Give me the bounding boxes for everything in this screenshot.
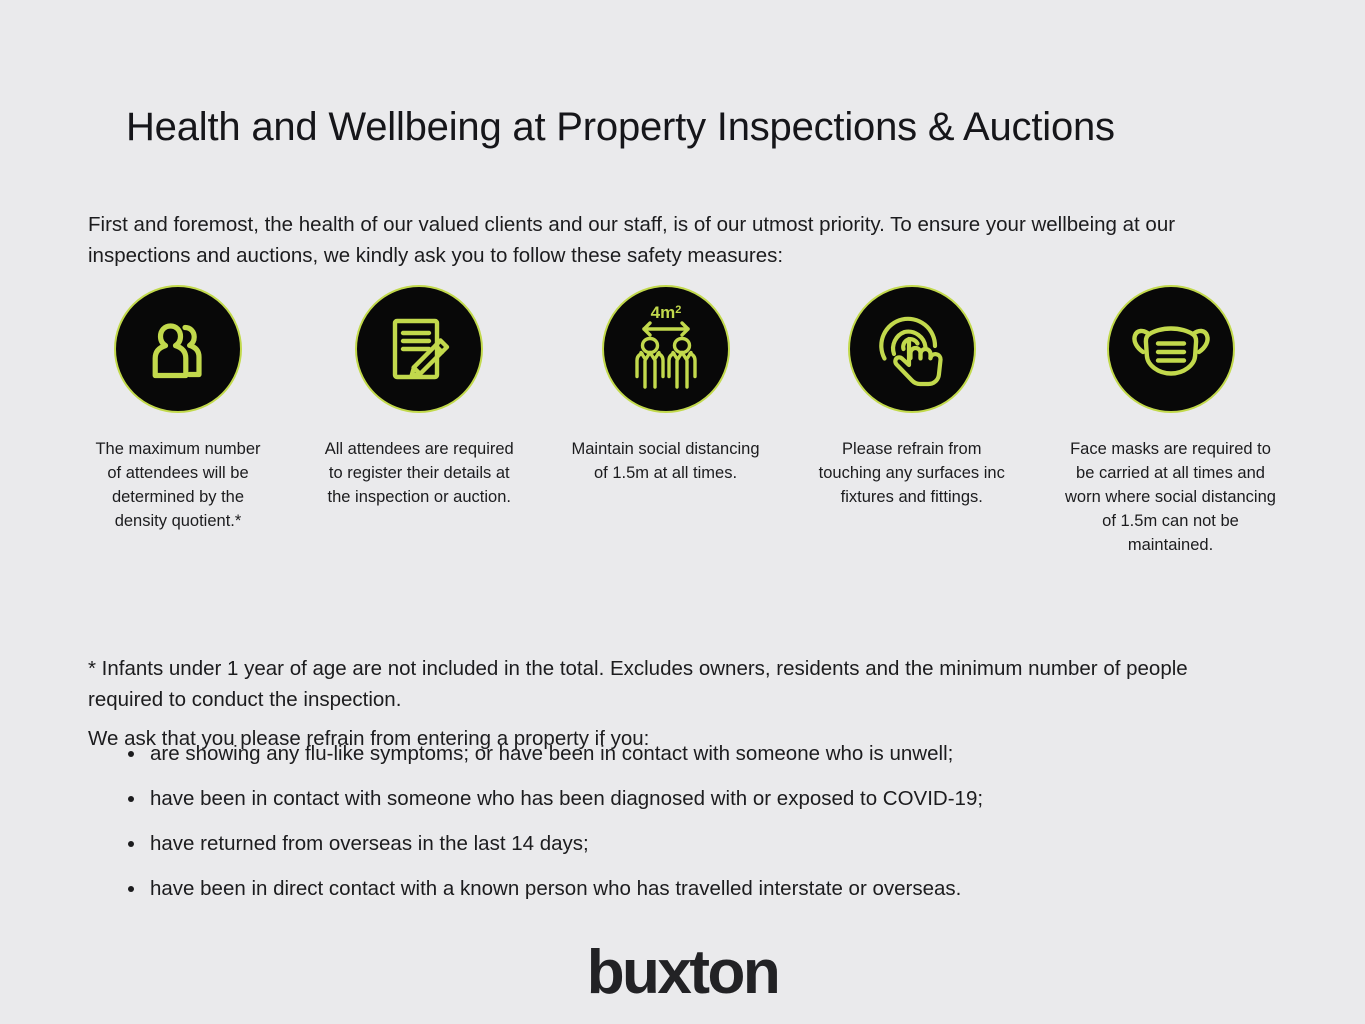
refrain-conditions-list: are showing any flu-like symptoms; or ha…	[124, 740, 1284, 920]
face-mask-icon	[1107, 285, 1235, 413]
list-item-text: have returned from overseas in the last …	[150, 832, 589, 855]
list-item: are showing any flu-like symptoms; or ha…	[124, 740, 1284, 768]
social-distancing-icon: 4m2	[602, 285, 730, 413]
two-people-icon	[114, 285, 242, 413]
list-item: have been in direct contact with a known…	[124, 875, 1284, 903]
bullet-dot-icon	[128, 886, 134, 892]
poster-page: Health and Wellbeing at Property Inspect…	[0, 0, 1365, 1024]
measure-item-distancing: 4m2	[571, 285, 761, 485]
measure-caption: The maximum number of attendees will be …	[88, 437, 268, 533]
measure-caption: Face masks are required to be carried at…	[1063, 437, 1278, 557]
measure-caption: Please refrain from touching any surface…	[812, 437, 1012, 509]
bullet-dot-icon	[128, 841, 134, 847]
page-title: Health and Wellbeing at Property Inspect…	[126, 105, 1266, 150]
list-item-text: are showing any flu-like symptoms; or ha…	[150, 742, 953, 765]
safety-measures-row: The maximum number of attendees will be …	[88, 285, 1278, 557]
footnote-text: * Infants under 1 year of age are not in…	[88, 653, 1238, 715]
measure-caption: All attendees are required to register t…	[319, 437, 519, 509]
measure-item-registration: All attendees are required to register t…	[319, 285, 519, 509]
measure-item-attendees: The maximum number of attendees will be …	[88, 285, 268, 533]
distancing-area-label: 4m2	[650, 303, 681, 322]
list-item-text: have been in contact with someone who ha…	[150, 787, 983, 810]
list-item-text: have been in direct contact with a known…	[150, 877, 961, 900]
measure-item-face-mask: Face masks are required to be carried at…	[1063, 285, 1278, 557]
measure-item-no-touch: Please refrain from touching any surface…	[812, 285, 1012, 509]
measure-caption: Maintain social distancing of 1.5m at al…	[571, 437, 761, 485]
buxton-logo: buxton	[0, 938, 1365, 1008]
bullet-dot-icon	[128, 796, 134, 802]
touch-hand-icon	[848, 285, 976, 413]
list-item: have returned from overseas in the last …	[124, 830, 1284, 858]
intro-paragraph: First and foremost, the health of our va…	[88, 209, 1238, 271]
bullet-dot-icon	[128, 751, 134, 757]
list-item: have been in contact with someone who ha…	[124, 785, 1284, 813]
document-pencil-icon	[355, 285, 483, 413]
